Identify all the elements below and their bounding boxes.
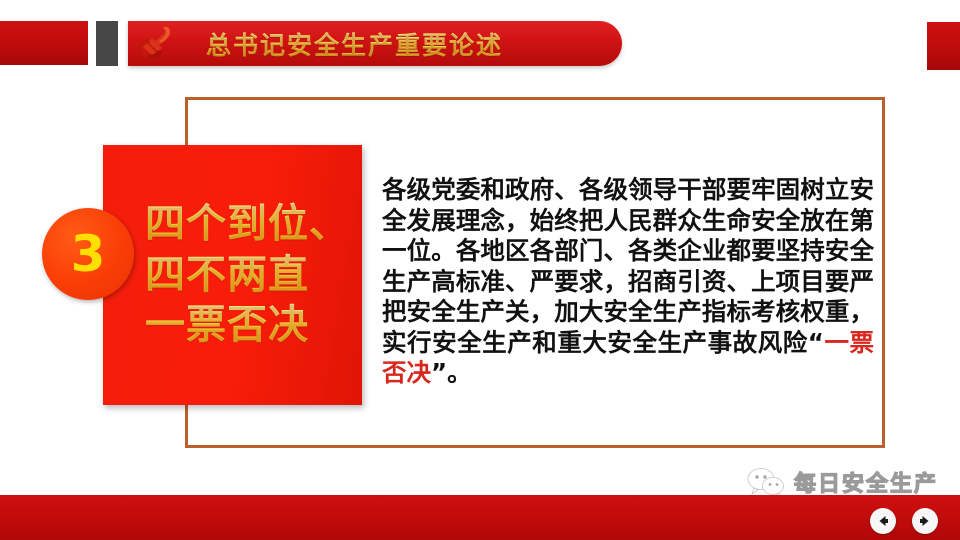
watermark-text: 每日安全生产: [794, 466, 938, 498]
slide-root: 总书记安全生产重要论述 四个到位、 四不两直 一票否决 3 各级党委和政府、各级…: [0, 0, 960, 540]
wechat-icon: [747, 467, 785, 497]
step-number-badge: 3: [42, 208, 134, 300]
body-paragraph: 各级党委和政府、各级领导干部要牢固树立安全发展理念，始终把人民群众生命安全放在第…: [382, 175, 874, 389]
header-banner: 总书记安全生产重要论述: [128, 21, 622, 66]
title-line-2: 四不两直: [145, 250, 309, 301]
bottom-bar: [0, 495, 960, 540]
decoration-gray-bar: [96, 21, 118, 66]
body-text-main: 各级党委和政府、各级领导干部要牢固树立安全发展理念，始终把人民群众生命安全放在第…: [382, 175, 874, 357]
next-button[interactable]: [912, 508, 938, 534]
title-line-1: 四个到位、: [145, 199, 350, 250]
watermark: 每日安全生产: [747, 466, 938, 498]
body-text-tail: 。: [447, 358, 472, 387]
decoration-red-block-left: [0, 21, 88, 65]
arrow-left-icon: [875, 514, 891, 528]
arrow-right-icon: [917, 514, 933, 528]
party-emblem-icon: [134, 23, 180, 65]
prev-button[interactable]: [870, 508, 896, 534]
quote-close: ”: [431, 358, 447, 387]
title-line-3: 一票否决: [145, 300, 309, 351]
step-number-value: 3: [71, 229, 106, 279]
quote-open: “: [808, 328, 824, 357]
title-card: 四个到位、 四不两直 一票否决: [103, 145, 362, 405]
decoration-red-block-right: [927, 22, 960, 70]
nav-buttons: [870, 508, 938, 534]
header-title: 总书记安全生产重要论述: [206, 26, 503, 62]
